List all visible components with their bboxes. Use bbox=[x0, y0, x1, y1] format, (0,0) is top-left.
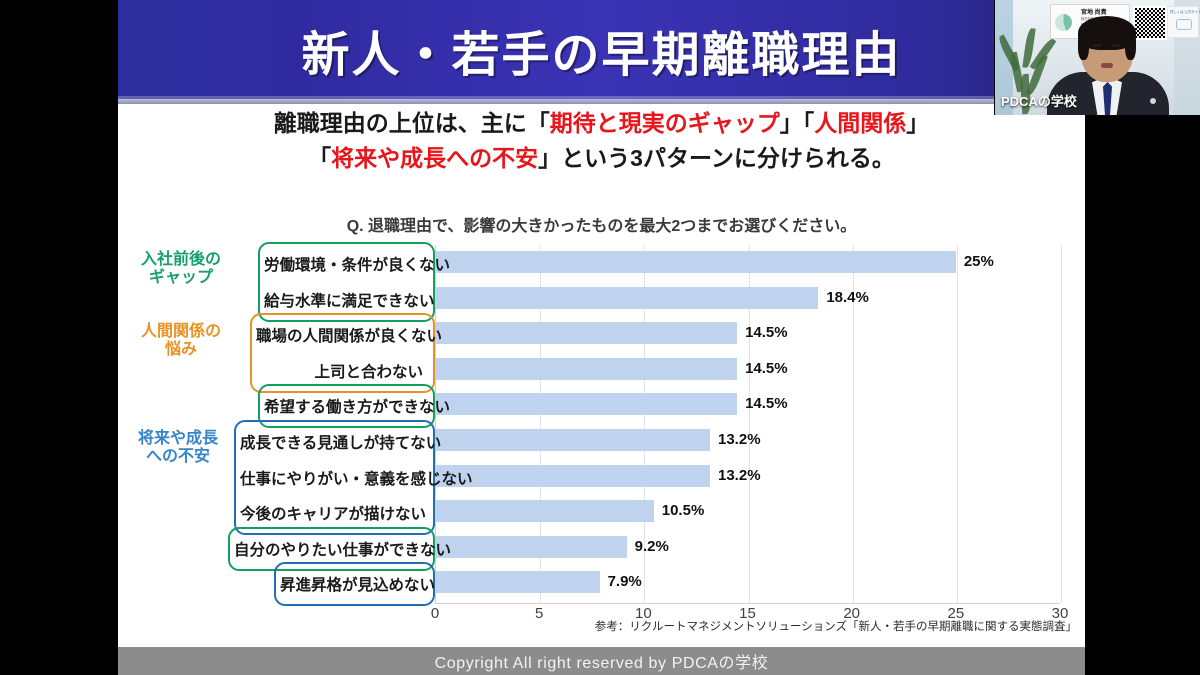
qr-caption-box bbox=[1176, 19, 1192, 30]
presenter-eye-right bbox=[1112, 44, 1121, 47]
subtitle-highlight-gap: 期待と現実のギャップ bbox=[550, 110, 780, 136]
category-label-3: 上司と合わない bbox=[256, 360, 423, 382]
qr-code-icon bbox=[1133, 6, 1167, 40]
bar-6 bbox=[435, 465, 710, 487]
group-future: 将来や成長への不安 bbox=[118, 430, 238, 467]
group-gap-line-1: 入社前後の bbox=[118, 251, 244, 269]
copyright-text: Copyright All right reserved by PDCAの学校 bbox=[435, 649, 769, 673]
presenter-name: 宮地 尚貴 bbox=[1081, 7, 1107, 16]
plot-baseline bbox=[435, 603, 1060, 604]
subtitle-l1-pre: 離職理由の上位は、主に「 bbox=[274, 110, 550, 136]
group-future-line-2: への不安 bbox=[118, 448, 238, 466]
screen: 新人・若手の早期離職理由 離職理由の上位は、主に「期待と現実のギャップ」「人間関… bbox=[0, 0, 1200, 675]
category-label-6: 仕事にやりがい・意義を感じない bbox=[240, 467, 423, 489]
bar-1 bbox=[435, 287, 818, 309]
bar-8 bbox=[435, 536, 627, 558]
subtitle-l2-post: 」という3パターンに分けられる。 bbox=[538, 145, 895, 171]
lapel-badge-icon bbox=[1150, 98, 1156, 104]
question-text: Q. 退職理由で、影響の大きかったものを最大2つまでお選びください。 bbox=[118, 212, 1085, 236]
bar-value-label-5: 13.2% bbox=[718, 431, 761, 448]
bar-2 bbox=[435, 322, 737, 344]
footer-bar: Copyright All right reserved by PDCAの学校 bbox=[118, 647, 1085, 675]
bar-value-label-6: 13.2% bbox=[718, 467, 761, 484]
qr-caption-card: 詳しくは 公式サイトまで bbox=[1167, 6, 1199, 38]
bar-9 bbox=[435, 571, 600, 593]
category-label-4: 希望する働き方ができない bbox=[264, 395, 423, 417]
group-gap-line-2: ギャップ bbox=[118, 269, 244, 287]
bar-value-label-2: 14.5% bbox=[745, 324, 788, 341]
category-label-7: 今後のキャリアが描けない bbox=[240, 502, 423, 524]
bar-5 bbox=[435, 429, 710, 451]
subtitle-highlight-relations: 人間関係 bbox=[814, 110, 906, 136]
bar-3 bbox=[435, 358, 737, 380]
bar-value-label-3: 14.5% bbox=[745, 360, 788, 377]
subtitle-l2-pre: 「 bbox=[308, 145, 331, 171]
category-label-2: 職場の人間関係が良くない bbox=[256, 324, 423, 346]
category-label-8: 自分のやりたい仕事ができない bbox=[234, 538, 423, 560]
title-banner: 新人・若手の早期離職理由 bbox=[118, 0, 1085, 99]
subtitle-l1-post: 」 bbox=[906, 110, 929, 136]
gridline-30 bbox=[1061, 245, 1062, 603]
subtitle-block: 離職理由の上位は、主に「期待と現実のギャップ」「人間関係」 「将来や成長への不安… bbox=[118, 112, 1085, 182]
subtitle-l1-mid: 」「 bbox=[780, 110, 815, 136]
category-label-1: 給与水準に満足できない bbox=[264, 289, 423, 311]
bar-4 bbox=[435, 393, 737, 415]
category-label-5: 成長できる見通しが持てない bbox=[240, 431, 423, 453]
gridline-25 bbox=[957, 245, 958, 603]
page-title: 新人・若手の早期離職理由 bbox=[301, 15, 901, 85]
slide-canvas: 新人・若手の早期離職理由 離職理由の上位は、主に「期待と現実のギャップ」「人間関… bbox=[118, 0, 1085, 675]
category-label-0: 労働環境・条件が良くない bbox=[264, 253, 423, 275]
subtitle-line-1: 離職理由の上位は、主に「期待と現実のギャップ」「人間関係」 bbox=[118, 112, 1085, 135]
subtitle-highlight-future: 将来や成長への不安 bbox=[331, 145, 538, 171]
presenter-hair-right bbox=[1125, 30, 1136, 60]
bar-0 bbox=[435, 251, 956, 273]
bar-value-label-0: 25% bbox=[964, 253, 994, 270]
category-label-9: 昇進昇格が見込めない bbox=[280, 573, 423, 595]
qr-caption-text: 詳しくは 公式サイトまで bbox=[1170, 9, 1200, 14]
presenter-mouth bbox=[1101, 63, 1113, 68]
video-tile[interactable]: 宮地 尚貴 株式会社ジェイックの会社 教育事業部 責任者 詳しくは 公式サイトま… bbox=[994, 0, 1200, 115]
bar-value-label-8: 9.2% bbox=[635, 538, 669, 555]
bar-7 bbox=[435, 500, 654, 522]
banner-underline bbox=[118, 99, 1085, 104]
presenter-hair-left bbox=[1078, 30, 1089, 60]
source-note: 参考：リクルートマネジメントソリューションズ「新人・若手の早期離職に関する実態調… bbox=[118, 618, 1085, 634]
presenter-eye-left bbox=[1093, 44, 1102, 47]
bar-value-label-4: 14.5% bbox=[745, 395, 788, 412]
bar-value-label-7: 10.5% bbox=[662, 502, 705, 519]
subtitle-line-2: 「将来や成長への不安」という3パターンに分けられる。 bbox=[118, 147, 1085, 170]
group-gap: 入社前後のギャップ bbox=[118, 251, 244, 288]
video-overlay-label: PDCAの学校 bbox=[1001, 91, 1077, 110]
group-relations-line-2: 悩み bbox=[118, 341, 244, 359]
group-relations-line-1: 人間関係の bbox=[118, 323, 244, 341]
group-future-line-1: 将来や成長 bbox=[118, 430, 238, 448]
group-relations: 人間関係の悩み bbox=[118, 323, 244, 360]
bar-value-label-1: 18.4% bbox=[826, 289, 869, 306]
bar-value-label-9: 7.9% bbox=[608, 573, 642, 590]
bar-chart: 05101520253025%18.4%14.5%14.5%14.5%13.2%… bbox=[118, 245, 1085, 615]
company-logo-icon bbox=[1055, 14, 1072, 31]
